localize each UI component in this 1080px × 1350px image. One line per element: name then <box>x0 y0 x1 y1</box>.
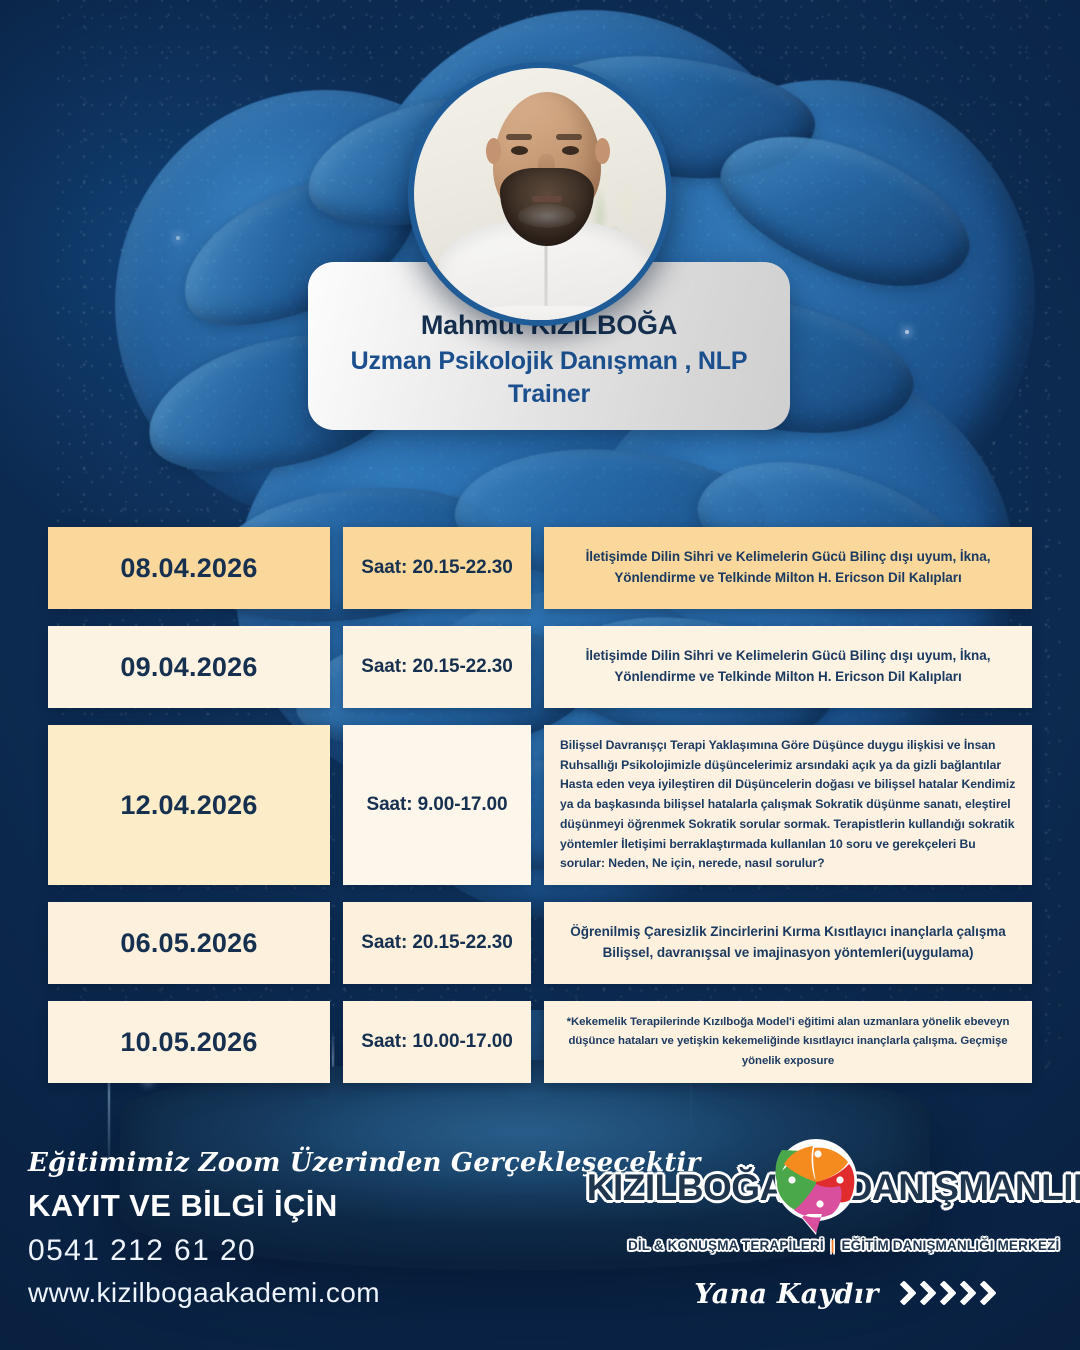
brand-logo-row: KIZILBOĞA <box>628 1140 1058 1236</box>
schedule-date-cell: 08.04.2026 <box>48 527 330 609</box>
brand-block: KIZILBOĞA <box>628 1140 1058 1310</box>
schedule-date-cell: 12.04.2026 <box>48 725 330 885</box>
contact-phone[interactable]: 0541 212 61 20 <box>28 1234 701 1268</box>
speaker-title: Uzman Psikolojik Danışman , NLP Trainer <box>308 345 790 410</box>
table-row[interactable]: 09.04.2026 Saat: 20.15-22.30 İletişimde … <box>48 626 1032 708</box>
schedule-time-cell: Saat: 20.15-22.30 <box>343 527 531 609</box>
schedule-table: 08.04.2026 Saat: 20.15-22.30 İletişimde … <box>48 527 1032 1083</box>
schedule-time: Saat: 9.00-17.00 <box>367 794 508 816</box>
photo-beard-highlight <box>518 204 576 228</box>
chevron-right-icon <box>933 1280 952 1310</box>
brand-word-left: KIZILBOĞA <box>587 1167 786 1209</box>
table-row[interactable]: 12.04.2026 Saat: 9.00-17.00 Bilişsel Dav… <box>48 725 1032 885</box>
schedule-time-cell: Saat: 20.15-22.30 <box>343 902 531 984</box>
chevron-right-icon <box>973 1280 992 1310</box>
schedule-time-cell: Saat: 9.00-17.00 <box>343 725 531 885</box>
brand-word-right: DANIŞMANLIK <box>846 1167 1080 1209</box>
table-row[interactable]: 08.04.2026 Saat: 20.15-22.30 İletişimde … <box>48 527 1032 609</box>
schedule-topic-cell: İletişimde Dilin Sihri ve Kelimelerin Gü… <box>544 626 1032 708</box>
neuron-spark <box>176 236 180 240</box>
schedule-time: Saat: 10.00-17.00 <box>361 1031 512 1053</box>
brand-subtitle: DİL & KONUŞMA TERAPİLERİ | EĞİTİM DANIŞM… <box>628 1238 1058 1253</box>
schedule-time: Saat: 20.15-22.30 <box>361 656 512 678</box>
speaker-photo <box>408 62 672 326</box>
schedule-topic: Öğrenilmiş Çaresizlik Zincirlerini Kırma… <box>560 922 1016 964</box>
schedule-topic-cell: Bilişsel Davranışçı Terapi Yaklaşımına G… <box>544 725 1032 885</box>
schedule-date: 10.05.2026 <box>120 1027 257 1058</box>
schedule-topic-cell: *Kekemelik Terapilerinde Kızılboğa Model… <box>544 1001 1032 1083</box>
brand-subtitle-right: EĞİTİM DANIŞMANLIĞI MERKEZİ <box>841 1238 1059 1253</box>
photo-brow-left <box>506 134 532 140</box>
chevron-right-icon <box>953 1280 972 1310</box>
photo-mouth <box>532 196 562 202</box>
photo-ear-left <box>486 138 501 164</box>
schedule-topic-cell: Öğrenilmiş Çaresizlik Zincirlerini Kırma… <box>544 902 1032 984</box>
table-row[interactable]: 06.05.2026 Saat: 20.15-22.30 Öğrenilmiş … <box>48 902 1032 984</box>
swipe-label: Yana Kaydır <box>694 1279 879 1310</box>
schedule-time: Saat: 20.15-22.30 <box>361 557 512 579</box>
schedule-topic: Bilişsel Davranışçı Terapi Yaklaşımına G… <box>560 736 1016 874</box>
schedule-topic-cell: İletişimde Dilin Sihri ve Kelimelerin Gü… <box>544 527 1032 609</box>
schedule-date-cell: 09.04.2026 <box>48 626 330 708</box>
schedule-time-cell: Saat: 10.00-17.00 <box>343 1001 531 1083</box>
puzzle-speech-bubble-logo <box>770 1138 862 1238</box>
schedule-topic: İletişimde Dilin Sihri ve Kelimelerin Gü… <box>560 646 1016 688</box>
contact-website[interactable]: www.kizilbogaakademi.com <box>28 1277 701 1309</box>
schedule-date-cell: 10.05.2026 <box>48 1001 330 1083</box>
footer: Eğitimimiz Zoom Üzerinden Gerçekleşecekt… <box>0 1140 1080 1350</box>
table-row[interactable]: 10.05.2026 Saat: 10.00-17.00 *Kekemelik … <box>48 1001 1032 1083</box>
poster-canvas: Mahmut KIZILBOĞA Uzman Psikolojik Danışm… <box>0 0 1080 1350</box>
photo-brow-right <box>556 134 582 140</box>
brand-subtitle-separator: | <box>831 1238 835 1253</box>
schedule-date: 12.04.2026 <box>120 790 257 821</box>
brand-subtitle-left: DİL & KONUŞMA TERAPİLERİ <box>628 1238 824 1253</box>
schedule-date: 08.04.2026 <box>120 553 257 584</box>
photo-eye-left <box>511 146 528 155</box>
schedule-topic: *Kekemelik Terapilerinde Kızılboğa Model… <box>560 1013 1016 1072</box>
photo-eye-right <box>562 146 579 155</box>
schedule-topic: İletişimde Dilin Sihri ve Kelimelerin Gü… <box>560 547 1016 589</box>
chevron-right-icon <box>913 1280 932 1310</box>
schedule-time-cell: Saat: 20.15-22.30 <box>343 626 531 708</box>
schedule-time: Saat: 20.15-22.30 <box>361 932 512 954</box>
schedule-date: 06.05.2026 <box>120 928 257 959</box>
schedule-date-cell: 06.05.2026 <box>48 902 330 984</box>
chevron-right-icon <box>893 1280 912 1310</box>
photo-ear-right <box>595 138 610 164</box>
neuron-spark <box>905 330 909 334</box>
swipe-prompt[interactable]: Yana Kaydır <box>628 1279 1058 1310</box>
schedule-date: 09.04.2026 <box>120 652 257 683</box>
chevron-right-icon-group <box>893 1280 992 1310</box>
